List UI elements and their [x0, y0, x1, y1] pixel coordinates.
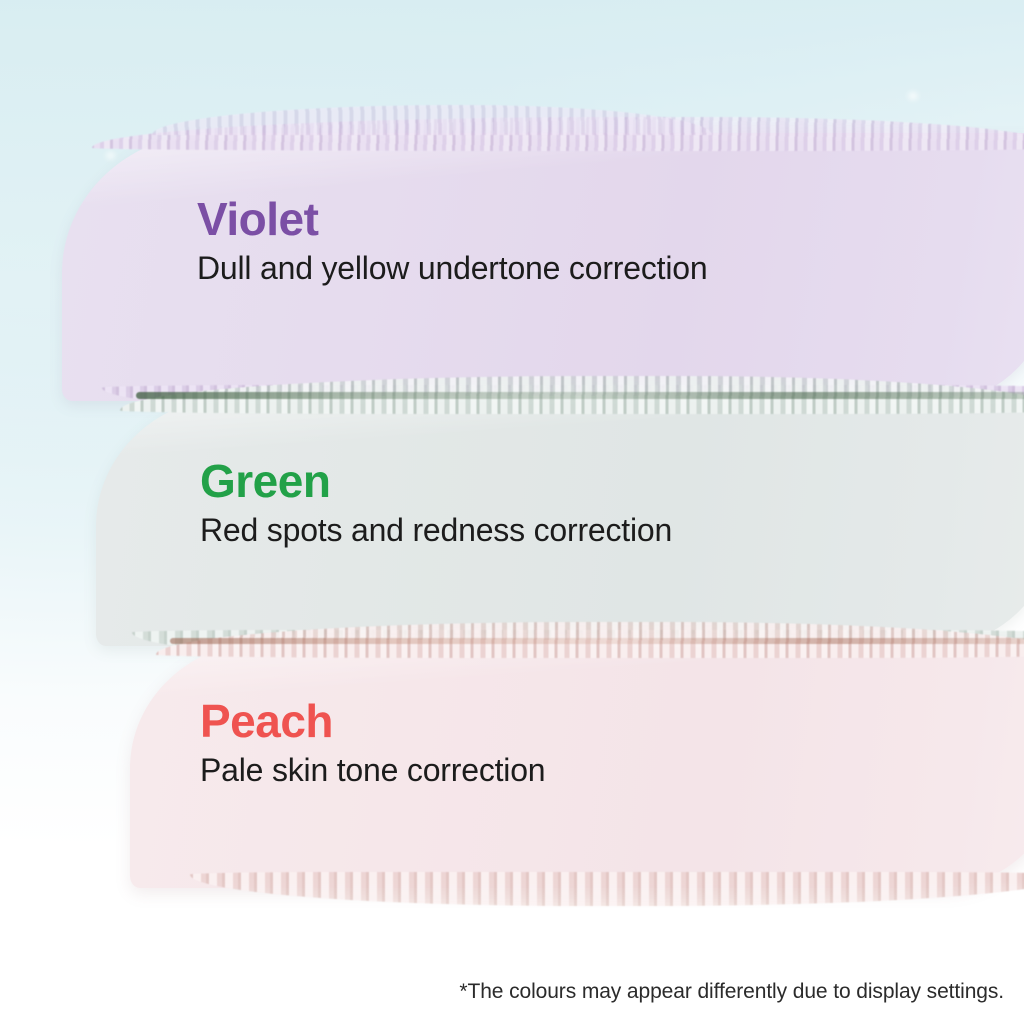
swatch-peach-label-group: Peach Pale skin tone correction: [200, 698, 545, 789]
swatch-violet-description: Dull and yellow undertone correction: [197, 250, 707, 287]
swatch-violet-label-group: Violet Dull and yellow undertone correct…: [197, 196, 707, 287]
disclaimer-footnote: *The colours may appear differently due …: [459, 980, 1004, 1004]
swatch-green-description: Red spots and redness correction: [200, 512, 672, 549]
swatch-green-title: Green: [200, 458, 672, 504]
swatch-green-top-edge-rib: [136, 392, 1024, 399]
swatch-peach-description: Pale skin tone correction: [200, 752, 545, 789]
swatch-green-label-group: Green Red spots and redness correction: [200, 458, 672, 549]
swatch-green[interactable]: Green Red spots and redness correction: [96, 396, 1024, 646]
swatch-violet[interactable]: Violet Dull and yellow undertone correct…: [62, 133, 1024, 401]
swatch-peach-title: Peach: [200, 698, 545, 744]
swatch-peach-top-edge-rib: [170, 638, 1024, 644]
highlight-speckle: [908, 92, 918, 100]
swatch-peach[interactable]: Peach Pale skin tone correction: [130, 640, 1024, 888]
swatch-violet-title: Violet: [197, 196, 707, 242]
infographic-canvas: Violet Dull and yellow undertone correct…: [0, 0, 1024, 1024]
